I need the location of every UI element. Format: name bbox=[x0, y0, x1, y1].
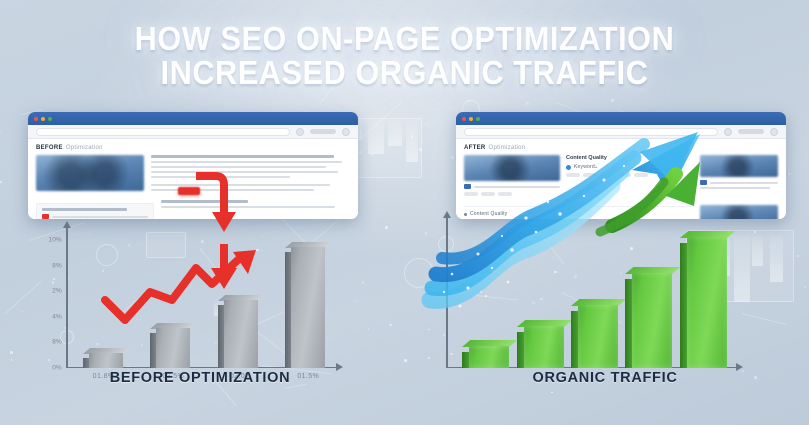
search-icon[interactable] bbox=[770, 128, 778, 136]
background-line bbox=[5, 280, 42, 313]
checklist-item-label: Keywords bbox=[574, 164, 598, 170]
browser-titlebar bbox=[28, 112, 358, 125]
profile-icon[interactable] bbox=[296, 128, 304, 136]
bar bbox=[291, 247, 325, 368]
checklist-item[interactable]: Keywords bbox=[566, 164, 694, 170]
badge-icon bbox=[464, 184, 471, 189]
background-dot bbox=[359, 151, 362, 154]
after-heading-main: AFTER bbox=[464, 145, 486, 151]
maximize-icon[interactable] bbox=[48, 117, 52, 121]
bar bbox=[632, 273, 672, 368]
background-dot bbox=[86, 97, 87, 98]
background-dot bbox=[11, 359, 12, 360]
background-dot bbox=[48, 359, 50, 361]
tag-row bbox=[464, 192, 560, 196]
background-dot bbox=[468, 100, 470, 102]
before-chart: 10%8%2%4%8%0% 01.8%202.5%02.0%01.5% bbox=[66, 228, 336, 368]
y-tick-label: 2% bbox=[52, 288, 62, 295]
minimize-icon[interactable] bbox=[469, 117, 473, 121]
background-dot bbox=[411, 135, 414, 138]
y-tick-label: 8% bbox=[52, 262, 62, 269]
background-dot bbox=[362, 281, 364, 283]
background-dot bbox=[0, 181, 2, 183]
toolbar-button[interactable] bbox=[738, 129, 764, 134]
after-page-content: AFTEROptimization Content Quality bbox=[456, 139, 786, 219]
background-bar bbox=[368, 120, 384, 154]
browser-toolbar bbox=[28, 125, 358, 139]
check-icon[interactable] bbox=[566, 165, 571, 170]
y-tick-label: 8% bbox=[52, 339, 62, 346]
bar bbox=[469, 346, 509, 368]
background-dot bbox=[426, 124, 428, 126]
browser-toolbar bbox=[456, 125, 786, 139]
list-item[interactable]: Content Quality bbox=[464, 211, 694, 217]
background-dot bbox=[22, 311, 23, 312]
bar bbox=[89, 353, 123, 368]
y-tick-label: 10% bbox=[48, 237, 62, 244]
list-item-label: Content Quality bbox=[470, 211, 507, 217]
background-dot bbox=[428, 357, 430, 359]
related-card[interactable] bbox=[36, 203, 154, 219]
background-dot bbox=[443, 334, 445, 336]
background-bar bbox=[406, 120, 418, 162]
red-highlight-chip bbox=[178, 187, 200, 195]
before-browser-window[interactable]: BEFOREOptimization bbox=[28, 112, 358, 219]
background-bar bbox=[734, 236, 750, 302]
profile-icon[interactable] bbox=[724, 128, 732, 136]
background-dot bbox=[439, 250, 442, 253]
background-dot bbox=[807, 159, 808, 160]
minimize-icon[interactable] bbox=[41, 117, 45, 121]
background-dot bbox=[788, 173, 790, 175]
search-icon[interactable] bbox=[342, 128, 350, 136]
background-dot bbox=[526, 102, 529, 105]
before-heading-sub: Optimization bbox=[66, 145, 103, 151]
address-bar[interactable] bbox=[36, 128, 290, 136]
after-browser-window[interactable]: AFTEROptimization Content Quality bbox=[456, 112, 786, 219]
before-page-heading: BEFOREOptimization bbox=[36, 145, 350, 151]
background-dot bbox=[371, 153, 373, 155]
background-bar bbox=[770, 236, 783, 282]
title-line-1: HOW SEO ON-PAGE OPTIMIZATION bbox=[135, 20, 675, 57]
background-dot bbox=[404, 359, 407, 362]
badge-icon bbox=[700, 180, 707, 185]
after-heading-sub: Optimization bbox=[489, 145, 526, 151]
before-heading-main: BEFORE bbox=[36, 145, 63, 151]
background-dot bbox=[385, 226, 388, 229]
bar bbox=[578, 305, 618, 368]
organic-traffic-caption: ORGANIC TRAFFIC bbox=[410, 370, 800, 386]
background-dot bbox=[754, 231, 756, 233]
background-bar bbox=[388, 120, 402, 146]
background-dot bbox=[0, 132, 1, 133]
background-dot bbox=[425, 232, 427, 234]
background-dot bbox=[389, 324, 392, 327]
background-dot bbox=[797, 255, 799, 257]
bar bbox=[156, 328, 190, 368]
organic-traffic-chart bbox=[446, 218, 736, 368]
bar bbox=[524, 326, 564, 368]
y-axis bbox=[446, 218, 448, 368]
background-dot bbox=[10, 351, 13, 354]
background-line bbox=[742, 313, 787, 325]
y-axis bbox=[66, 228, 68, 368]
infographic-canvas: HOW SEO ON-PAGE OPTIMIZATION INCREASED O… bbox=[0, 0, 809, 425]
toolbar-button[interactable] bbox=[310, 129, 336, 134]
background-dot bbox=[798, 190, 799, 191]
y-axis-arrow-icon bbox=[443, 211, 451, 218]
title-line-2: INCREASED ORGANIC TRAFFIC bbox=[28, 56, 780, 90]
background-dot bbox=[368, 328, 369, 329]
result-thumb bbox=[700, 205, 778, 219]
background-ring bbox=[404, 258, 434, 288]
y-tick-label: 4% bbox=[52, 313, 62, 320]
background-dot bbox=[354, 300, 356, 302]
article-image bbox=[36, 155, 144, 191]
background-dot bbox=[804, 286, 805, 287]
profile-image bbox=[464, 155, 560, 181]
background-dot bbox=[371, 187, 372, 188]
background-dot bbox=[428, 329, 430, 331]
background-line bbox=[363, 100, 404, 137]
maximize-icon[interactable] bbox=[476, 117, 480, 121]
page-title: HOW SEO ON-PAGE OPTIMIZATION INCREASED O… bbox=[28, 22, 780, 89]
background-dot bbox=[228, 395, 229, 396]
result-thumb bbox=[700, 155, 778, 177]
background-dot bbox=[419, 148, 422, 151]
before-page-content: BEFOREOptimization bbox=[28, 139, 358, 219]
after-page-heading: AFTEROptimization bbox=[464, 145, 778, 151]
y-axis-arrow-icon bbox=[63, 221, 71, 228]
close-icon[interactable] bbox=[34, 117, 38, 121]
background-dot bbox=[611, 99, 614, 102]
browser-titlebar bbox=[456, 112, 786, 125]
background-bar bbox=[752, 236, 763, 266]
close-icon[interactable] bbox=[462, 117, 466, 121]
bar bbox=[224, 300, 258, 368]
section-title: Content Quality bbox=[566, 155, 694, 161]
address-bar[interactable] bbox=[464, 128, 718, 136]
bullet-icon bbox=[464, 213, 467, 216]
background-dot bbox=[52, 281, 54, 283]
bar bbox=[687, 237, 727, 368]
before-caption: BEFORE OPTIMIZATION bbox=[0, 370, 400, 386]
background-dot bbox=[551, 392, 552, 393]
background-dot bbox=[53, 278, 55, 280]
background-dot bbox=[451, 156, 454, 159]
